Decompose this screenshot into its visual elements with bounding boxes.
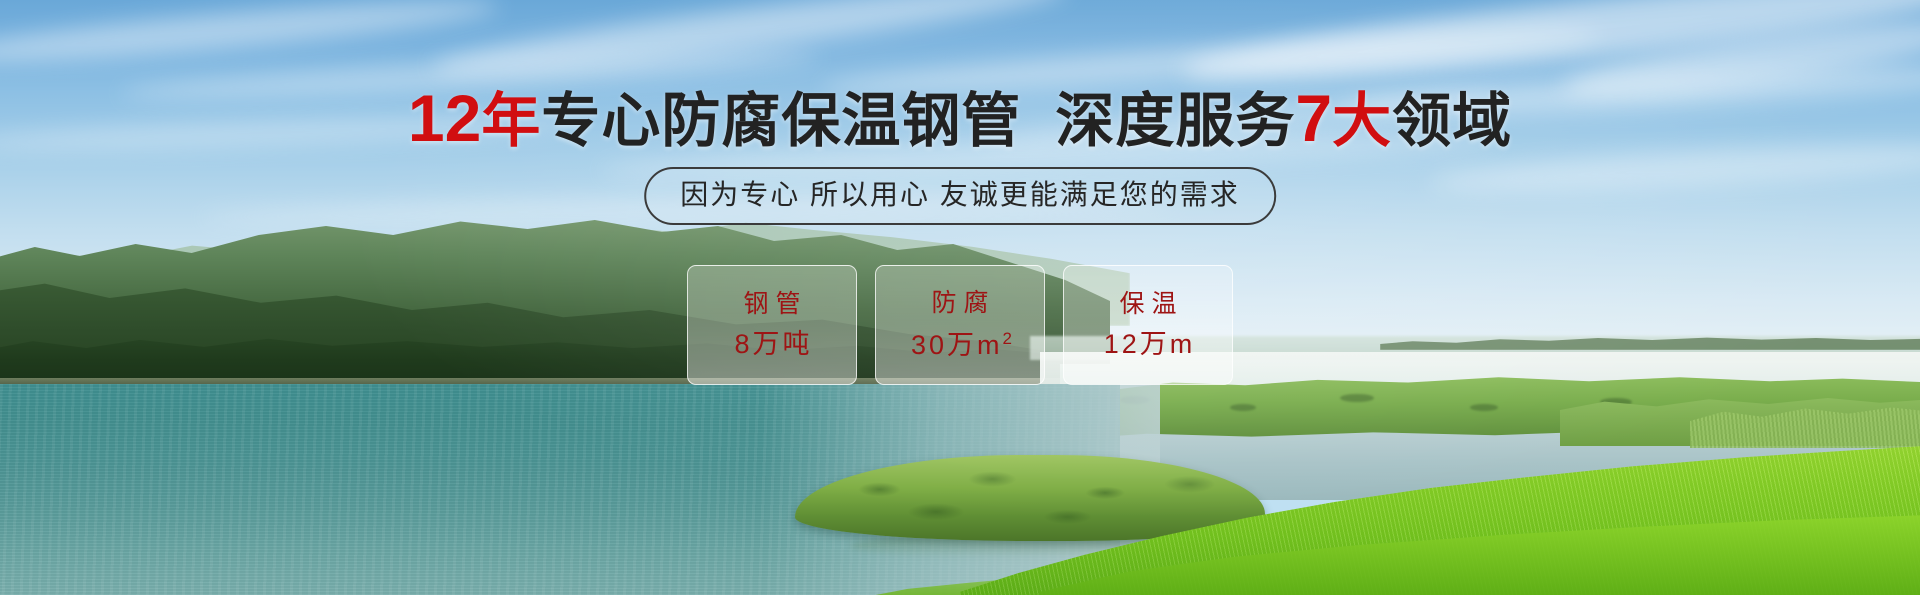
banner-content: 12年专心防腐保温钢管深度服务7大领域 因为专心 所以用心 友诚更能满足您的需求… [0, 0, 1920, 595]
banner-headline: 12年专心防腐保温钢管深度服务7大领域 [0, 84, 1920, 154]
stat-card-value: 12万m [1101, 331, 1196, 358]
stat-cards: 钢管 8万吨 防腐 30万m2 保温 12万m [687, 265, 1233, 385]
stat-card-label: 保温 [1112, 292, 1183, 317]
headline-fields-unit: 大 [1332, 88, 1392, 154]
stat-card-value-main: 30万m [911, 330, 1003, 360]
stat-card-steel-pipe: 钢管 8万吨 [687, 265, 857, 385]
stat-card-value-superscript: 2 [1003, 329, 1012, 348]
stat-card-value: 30万m2 [908, 330, 1012, 359]
stat-card-anticorrosion: 防腐 30万m2 [875, 265, 1045, 385]
stat-card-value-main: 8万吨 [734, 329, 812, 359]
headline-years-number: 12 [408, 81, 481, 155]
stat-card-label: 钢管 [736, 292, 807, 317]
headline-main-text: 专心防腐保温钢管 [541, 88, 1021, 154]
headline-years-unit: 年 [481, 88, 541, 154]
stat-card-value-main: 12万m [1104, 329, 1196, 359]
headline-service-text: 深度服务 [1055, 88, 1295, 154]
stat-card-label: 防腐 [924, 291, 995, 316]
banner-subtitle: 因为专心 所以用心 友诚更能满足您的需求 [644, 167, 1276, 225]
headline-fields-text: 领域 [1392, 88, 1512, 154]
hero-banner: 12年专心防腐保温钢管深度服务7大领域 因为专心 所以用心 友诚更能满足您的需求… [0, 0, 1920, 595]
headline-fields-number: 7 [1295, 81, 1332, 155]
stat-card-value: 8万吨 [731, 331, 812, 358]
stat-card-insulation: 保温 12万m [1063, 265, 1233, 385]
